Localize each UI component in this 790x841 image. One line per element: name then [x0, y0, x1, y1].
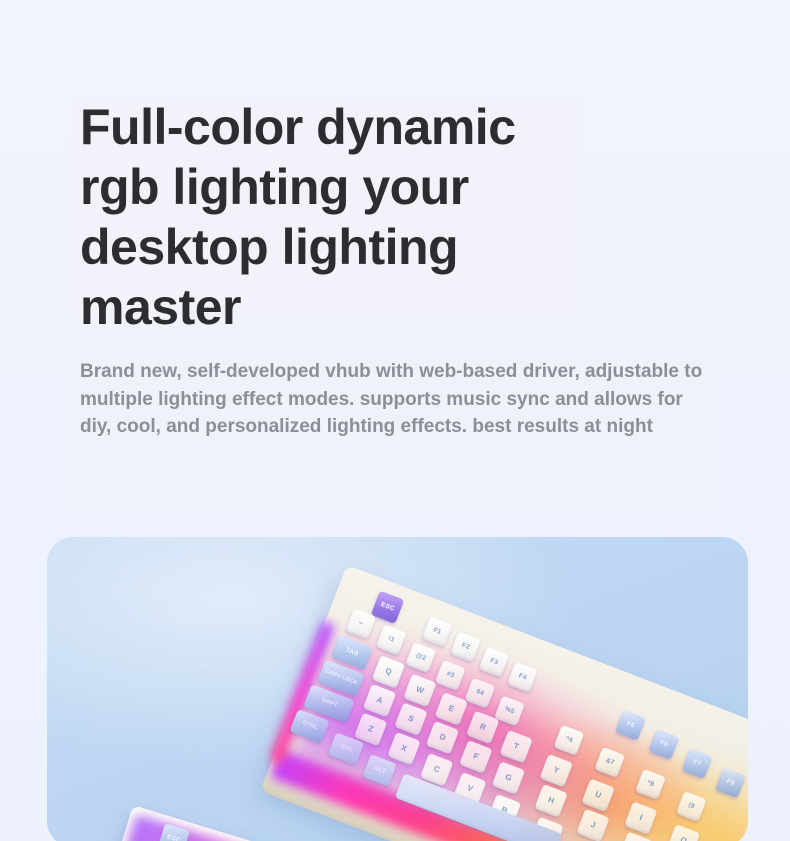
keycap-f1[interactable]: F1	[422, 616, 453, 647]
keycap-@-2[interactable]: @2	[405, 642, 436, 673]
page-subtitle: Brand new, self-developed vhub with web-…	[80, 358, 715, 441]
product-photo-panel: ESCF1F2F3~123 ESCF1F2F3F4F5F6F7F8~!1@2#3…	[47, 537, 748, 841]
keycap-w[interactable]: W	[403, 674, 437, 708]
keycap-legend: CTRL	[301, 721, 318, 732]
keycap-legend: F4	[517, 673, 527, 682]
keycap-h[interactable]: H	[534, 784, 568, 818]
keycap-legend: A	[375, 696, 384, 706]
keycap-s[interactable]: S	[394, 702, 428, 736]
keycap-legend: U	[594, 790, 603, 800]
keycap-(-9[interactable]: (9	[676, 791, 707, 822]
keycap-^-6[interactable]: ^6	[553, 725, 584, 756]
keycap-legend: R	[478, 722, 487, 732]
keycap-f3[interactable]: F3	[478, 647, 509, 678]
keycap-legend: F1	[432, 627, 442, 636]
keycap-g[interactable]: G	[492, 761, 526, 795]
keycap-legend: F3	[489, 658, 499, 667]
subtitle-container: Brand new, self-developed vhub with web-…	[70, 358, 715, 441]
keycap-legend: SHIFT	[320, 698, 338, 709]
keycap-legend: 1	[389, 636, 395, 644]
keycap-f6[interactable]: F6	[648, 729, 679, 760]
headline-container: Full-color dynamic rgb lighting your des…	[70, 97, 582, 337]
keycap-legend: F6	[659, 740, 669, 749]
keycap-legend: O	[679, 836, 688, 841]
keycap-legend: G	[504, 773, 513, 783]
keycap-f2[interactable]: F2	[450, 631, 481, 662]
keycap-legend: CAPS LOCK	[324, 670, 358, 688]
keycap-d[interactable]: D	[426, 721, 460, 755]
keycap-$-4[interactable]: $4	[464, 678, 495, 709]
keycap-f5[interactable]: F5	[615, 710, 646, 741]
keycap-e[interactable]: E	[435, 692, 469, 726]
keycap-legend: W	[415, 685, 425, 696]
keycap-legend: ESC	[380, 602, 395, 613]
keycap-j[interactable]: J	[576, 809, 610, 841]
keycap-legend: 5	[509, 708, 515, 716]
keycap-legend: S	[407, 714, 415, 724]
keycap-a[interactable]: A	[363, 684, 397, 718]
keycap-legend: T	[512, 742, 520, 752]
keycap-legend: ESC	[166, 834, 181, 841]
keycap-legend: H	[547, 796, 556, 806]
keycap-legend: ~	[357, 619, 365, 629]
keycap-#-3[interactable]: #3	[435, 660, 466, 691]
keycap-legend: 4	[479, 690, 485, 698]
keycap-legend: C	[432, 765, 441, 775]
keycap-legend: 9	[689, 803, 695, 811]
keycap-legend: 2	[421, 655, 427, 663]
keycap-legend: F8	[725, 778, 735, 787]
keycap-legend: F7	[692, 759, 702, 768]
keycap-i[interactable]: I	[624, 801, 658, 835]
keycap-&-7[interactable]: &7	[594, 747, 625, 778]
keycap-legend: X	[400, 744, 408, 754]
keycap-t[interactable]: T	[499, 730, 533, 764]
product-detail-page: Full-color dynamic rgb lighting your des…	[0, 0, 790, 841]
keycap-*-8[interactable]: *8	[635, 769, 666, 800]
page-title: Full-color dynamic rgb lighting your des…	[80, 97, 582, 337]
keycap-legend: Z	[367, 725, 375, 735]
keycap-f[interactable]: F	[459, 740, 493, 774]
keycap-legend: D	[438, 733, 447, 743]
keycap-alt[interactable]: ALT	[362, 754, 397, 786]
keycap-legend: J	[589, 821, 596, 831]
keycap-legend: TAB	[344, 647, 359, 658]
keycap-legend: I	[638, 814, 643, 823]
primary-keyboard: ESCF1F2F3F4F5F6F7F8~!1@2#3$4%5^6&7*8(9TA…	[229, 565, 748, 841]
keycap-f4[interactable]: F4	[507, 662, 538, 693]
keycap-legend: V	[466, 784, 474, 794]
keycap-legend: 6	[568, 737, 574, 745]
keycap-q[interactable]: Q	[372, 655, 406, 689]
keycap-legend: F5	[625, 721, 635, 730]
keycap-legend: F	[472, 752, 480, 762]
keycap-legend: E	[447, 704, 455, 714]
keycap-legend: WIN	[339, 743, 354, 754]
keycap-legend: Q	[384, 667, 393, 677]
keycap-legend: 7	[609, 759, 615, 767]
keycap-legend: 3	[449, 672, 455, 680]
keycap-legend: ALT	[372, 765, 386, 776]
keycap-o[interactable]: O	[667, 824, 701, 841]
keycap-legend: 8	[649, 781, 655, 789]
keycap-legend: Y	[552, 766, 560, 776]
keycap-!-1[interactable]: !1	[376, 624, 407, 655]
keycap-x[interactable]: X	[387, 732, 421, 766]
keycap-y[interactable]: Y	[539, 754, 573, 788]
keycap-u[interactable]: U	[581, 779, 615, 813]
keycap-f8[interactable]: F8	[715, 767, 746, 798]
keycap-legend: F2	[461, 642, 471, 651]
keycap-f7[interactable]: F7	[682, 748, 713, 779]
